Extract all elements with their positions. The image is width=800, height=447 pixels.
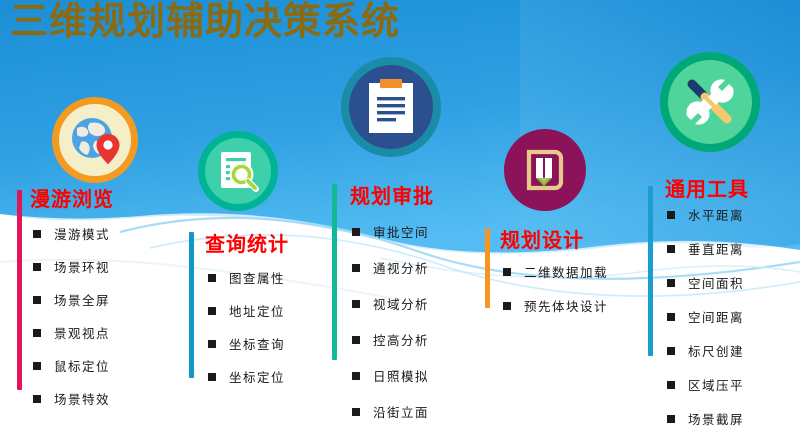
- list-item-label: 场景特效: [54, 389, 110, 408]
- list-item-label: 日照模拟: [373, 366, 429, 385]
- list-item-label: 控高分析: [373, 330, 429, 349]
- list-item[interactable]: 坐标定位: [208, 367, 348, 386]
- square-bullet-icon: [33, 263, 41, 271]
- square-bullet-icon: [33, 230, 41, 238]
- square-bullet-icon: [208, 373, 216, 381]
- list-item[interactable]: 二维数据加载: [503, 262, 663, 281]
- list-item[interactable]: 景观视点: [33, 323, 173, 342]
- list-item-label: 区域压平: [688, 375, 744, 394]
- page-title: 三维规划辅助决策系统: [10, 0, 400, 46]
- column-item-list: 漫游模式 场景环视 场景全屏 景观视点 鼠标定位 场景特效: [33, 224, 173, 408]
- list-item-label: 通视分析: [373, 258, 429, 277]
- list-item-label: 空间面积: [688, 273, 744, 292]
- list-item-label: 坐标查询: [229, 334, 285, 353]
- list-item[interactable]: 日照模拟: [352, 366, 502, 385]
- square-bullet-icon: [208, 340, 216, 348]
- square-bullet-icon: [352, 300, 360, 308]
- list-item[interactable]: 预先体块设计: [503, 296, 663, 315]
- column-item-list: 水平距离 垂直距离 空间面积 空间距离 标尺创建 区域压平 场景截屏: [667, 205, 800, 428]
- list-item[interactable]: 坐标查询: [208, 334, 348, 353]
- square-bullet-icon: [667, 245, 675, 253]
- square-bullet-icon: [33, 329, 41, 337]
- column-accent-bar: [189, 232, 194, 378]
- list-item[interactable]: 场景特效: [33, 389, 173, 408]
- list-item[interactable]: 标尺创建: [667, 341, 800, 360]
- list-item[interactable]: 场景截屏: [667, 409, 800, 428]
- square-bullet-icon: [667, 279, 675, 287]
- square-bullet-icon: [352, 372, 360, 380]
- clipboard-icon[interactable]: [341, 57, 441, 157]
- column-accent-bar: [485, 228, 490, 308]
- list-item[interactable]: 沿街立面: [352, 402, 502, 421]
- list-item[interactable]: 通视分析: [352, 258, 502, 277]
- list-item[interactable]: 区域压平: [667, 375, 800, 394]
- square-bullet-icon: [503, 302, 511, 310]
- list-item-label: 场景截屏: [688, 409, 744, 428]
- square-bullet-icon: [352, 228, 360, 236]
- square-bullet-icon: [33, 296, 41, 304]
- document-search-glyph: [214, 147, 262, 195]
- square-bullet-icon: [352, 264, 360, 272]
- square-bullet-icon: [667, 415, 675, 423]
- list-item[interactable]: 场景环视: [33, 257, 173, 276]
- list-item-label: 坐标定位: [229, 367, 285, 386]
- list-item-label: 水平距离: [688, 205, 744, 224]
- list-item[interactable]: 控高分析: [352, 330, 502, 349]
- column-item-list: 二维数据加载 预先体块设计: [503, 262, 663, 315]
- list-item-label: 空间距离: [688, 307, 744, 326]
- list-item-label: 场景环视: [54, 257, 110, 276]
- list-item[interactable]: 场景全屏: [33, 290, 173, 309]
- globe-pin-icon[interactable]: [52, 97, 138, 183]
- column-item-list: 审批空间 通视分析 视域分析 控高分析 日照模拟 沿街立面: [352, 222, 502, 421]
- clipboard-glyph: [364, 77, 418, 137]
- list-item-label: 地址定位: [229, 301, 285, 320]
- book-download-icon[interactable]: [504, 129, 586, 211]
- column-accent-bar: [17, 190, 22, 390]
- list-item[interactable]: 图查属性: [208, 268, 348, 287]
- list-item-label: 图查属性: [229, 268, 285, 287]
- square-bullet-icon: [352, 336, 360, 344]
- square-bullet-icon: [503, 268, 511, 276]
- globe-pin-glyph: [67, 114, 123, 166]
- list-item[interactable]: 空间面积: [667, 273, 800, 292]
- list-item[interactable]: 垂直距离: [667, 239, 800, 258]
- slide-canvas: 三维规划辅助决策系统: [0, 0, 800, 447]
- list-item[interactable]: 地址定位: [208, 301, 348, 320]
- list-item[interactable]: 漫游模式: [33, 224, 173, 243]
- square-bullet-icon: [33, 362, 41, 370]
- column-accent-bar: [648, 186, 653, 356]
- document-search-icon[interactable]: [198, 131, 278, 211]
- list-item-label: 标尺创建: [688, 341, 744, 360]
- column-title: 规划审批: [350, 180, 434, 209]
- list-item[interactable]: 视域分析: [352, 294, 502, 313]
- list-item-label: 漫游模式: [54, 224, 110, 243]
- square-bullet-icon: [208, 307, 216, 315]
- column-title: 查询统计: [205, 228, 289, 257]
- book-download-glyph: [521, 146, 569, 194]
- square-bullet-icon: [667, 211, 675, 219]
- column-item-list: 图查属性 地址定位 坐标查询 坐标定位: [208, 268, 348, 386]
- list-item-label: 景观视点: [54, 323, 110, 342]
- list-item-label: 二维数据加载: [524, 262, 608, 281]
- list-item-label: 视域分析: [373, 294, 429, 313]
- list-item[interactable]: 鼠标定位: [33, 356, 173, 375]
- list-item-label: 审批空间: [373, 222, 429, 241]
- tools-icon[interactable]: [660, 52, 760, 152]
- list-item-label: 沿街立面: [373, 402, 429, 421]
- tools-glyph: [679, 71, 741, 133]
- list-item-label: 鼠标定位: [54, 356, 110, 375]
- column-title: 漫游浏览: [30, 183, 114, 212]
- list-item[interactable]: 空间距离: [667, 307, 800, 326]
- square-bullet-icon: [667, 313, 675, 321]
- square-bullet-icon: [352, 408, 360, 416]
- square-bullet-icon: [208, 274, 216, 282]
- column-title: 规划设计: [500, 224, 584, 253]
- square-bullet-icon: [33, 395, 41, 403]
- list-item[interactable]: 审批空间: [352, 222, 502, 241]
- list-item-label: 预先体块设计: [524, 296, 608, 315]
- square-bullet-icon: [667, 347, 675, 355]
- column-accent-bar: [332, 184, 337, 360]
- list-item-label: 垂直距离: [688, 239, 744, 258]
- square-bullet-icon: [667, 381, 675, 389]
- list-item-label: 场景全屏: [54, 290, 110, 309]
- list-item[interactable]: 水平距离: [667, 205, 800, 224]
- column-title: 通用工具: [665, 173, 749, 202]
